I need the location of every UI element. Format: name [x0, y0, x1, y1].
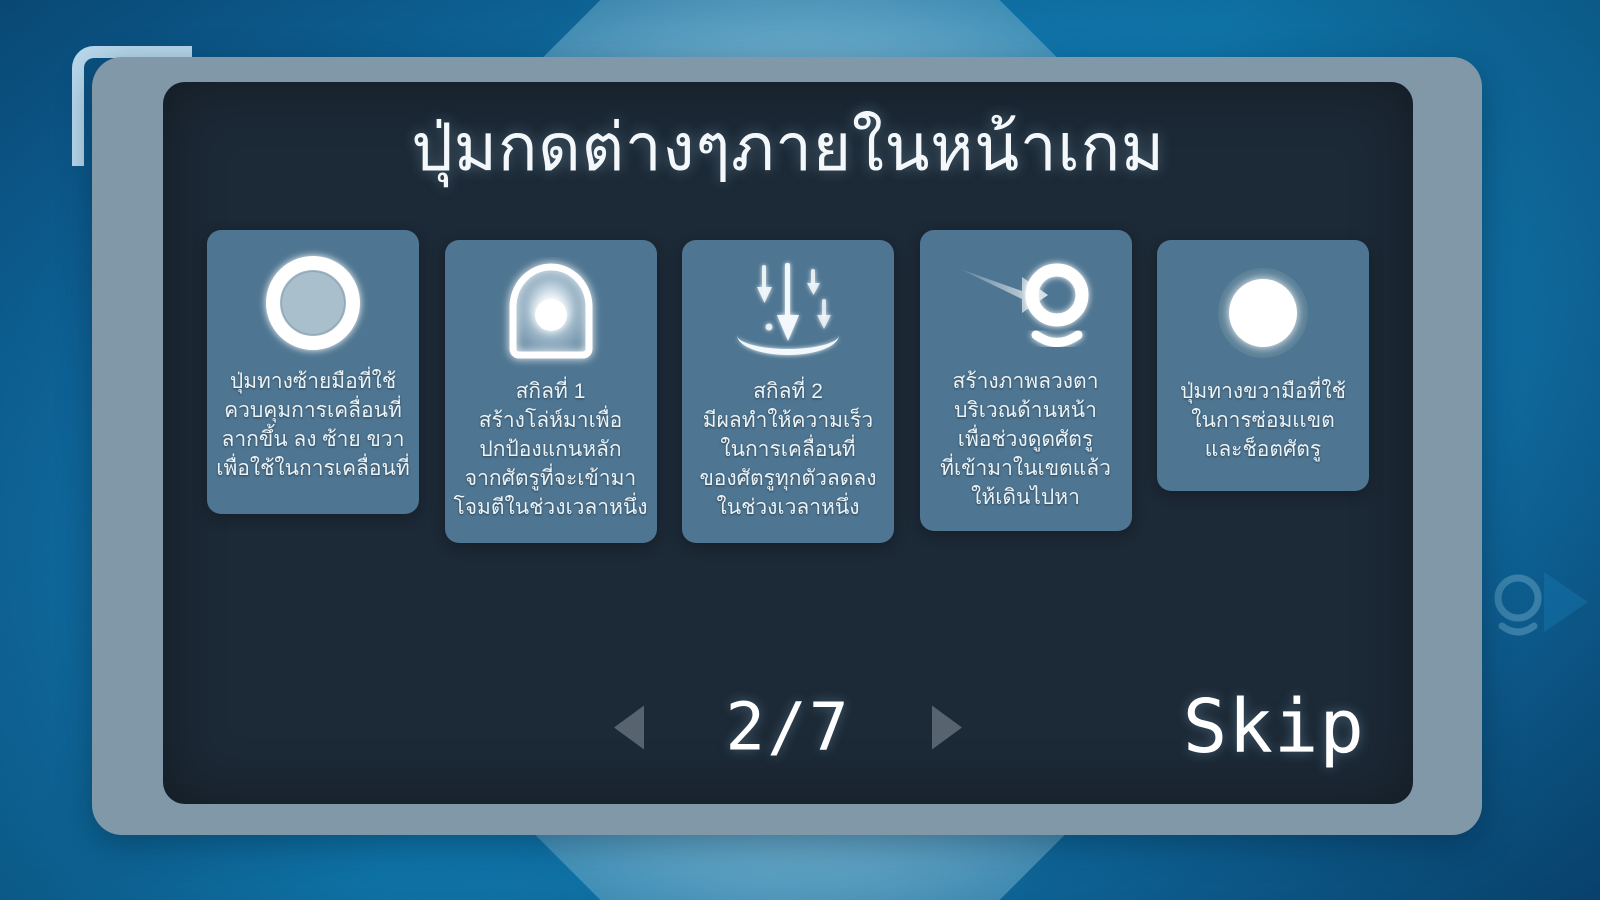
decorative-ring-triangle-icon [1482, 556, 1592, 648]
tutorial-card-text: สร้างภาพลวงตา บริเวณด้านหน้า เพื่อช่วงดู… [940, 368, 1111, 513]
tutorial-card-list: ปุ่มทางซ้ายมือที่ใช้ ควบคุมการเคลื่อนที่… [207, 230, 1369, 543]
decoy-lure-arrow-icon [928, 244, 1124, 362]
joystick-ring-icon [215, 244, 411, 362]
tutorial-card[interactable]: ปุ่มทางซ้ายมือที่ใช้ ควบคุมการเคลื่อนที่… [207, 230, 419, 514]
tutorial-card[interactable]: สกิลที่ 2 มีผลทำให้ความเร็ว ในการเคลื่อน… [682, 240, 894, 543]
skip-button[interactable]: Skip [1183, 684, 1365, 770]
tutorial-card[interactable]: ปุ่มทางขวามือที่ใช้ ในการซ่อมเเขต และช็อ… [1157, 240, 1369, 491]
tutorial-card-text: ปุ่มทางซ้ายมือที่ใช้ ควบคุมการเคลื่อนที่… [216, 368, 409, 484]
tutorial-card-text: สกิลที่ 2 มีผลทำให้ความเร็ว ในการเคลื่อน… [699, 378, 876, 523]
tutorial-panel: ปุ่มกดต่างๆภายในหน้าเกม ปุ่มทางซ้ายมือที… [163, 82, 1413, 804]
action-button-disc-icon [1165, 254, 1361, 372]
tutorial-card-text: ปุ่มทางขวามือที่ใช้ ในการซ่อมเเขต และช็อ… [1180, 378, 1346, 465]
page-nav-group: 2/7 [614, 689, 962, 766]
page-indicator: 2/7 [698, 689, 878, 766]
tutorial-card-text: สกิลที่ 1 สร้างโล่ห์มาเพื่อ ปกป้องแกนหลั… [453, 378, 647, 523]
slow-field-arrows-icon [690, 254, 886, 372]
triangle-left-icon[interactable] [614, 705, 644, 749]
page-title: ปุ่มกดต่างๆภายในหน้าเกม [163, 98, 1413, 197]
shield-dome-icon [453, 254, 649, 372]
tutorial-card[interactable]: สกิลที่ 1 สร้างโล่ห์มาเพื่อ ปกป้องแกนหลั… [445, 240, 657, 543]
footer-navigation: 2/7 Skip [163, 672, 1413, 782]
triangle-right-icon[interactable] [932, 705, 962, 749]
tutorial-card[interactable]: สร้างภาพลวงตา บริเวณด้านหน้า เพื่อช่วงดู… [920, 230, 1132, 531]
